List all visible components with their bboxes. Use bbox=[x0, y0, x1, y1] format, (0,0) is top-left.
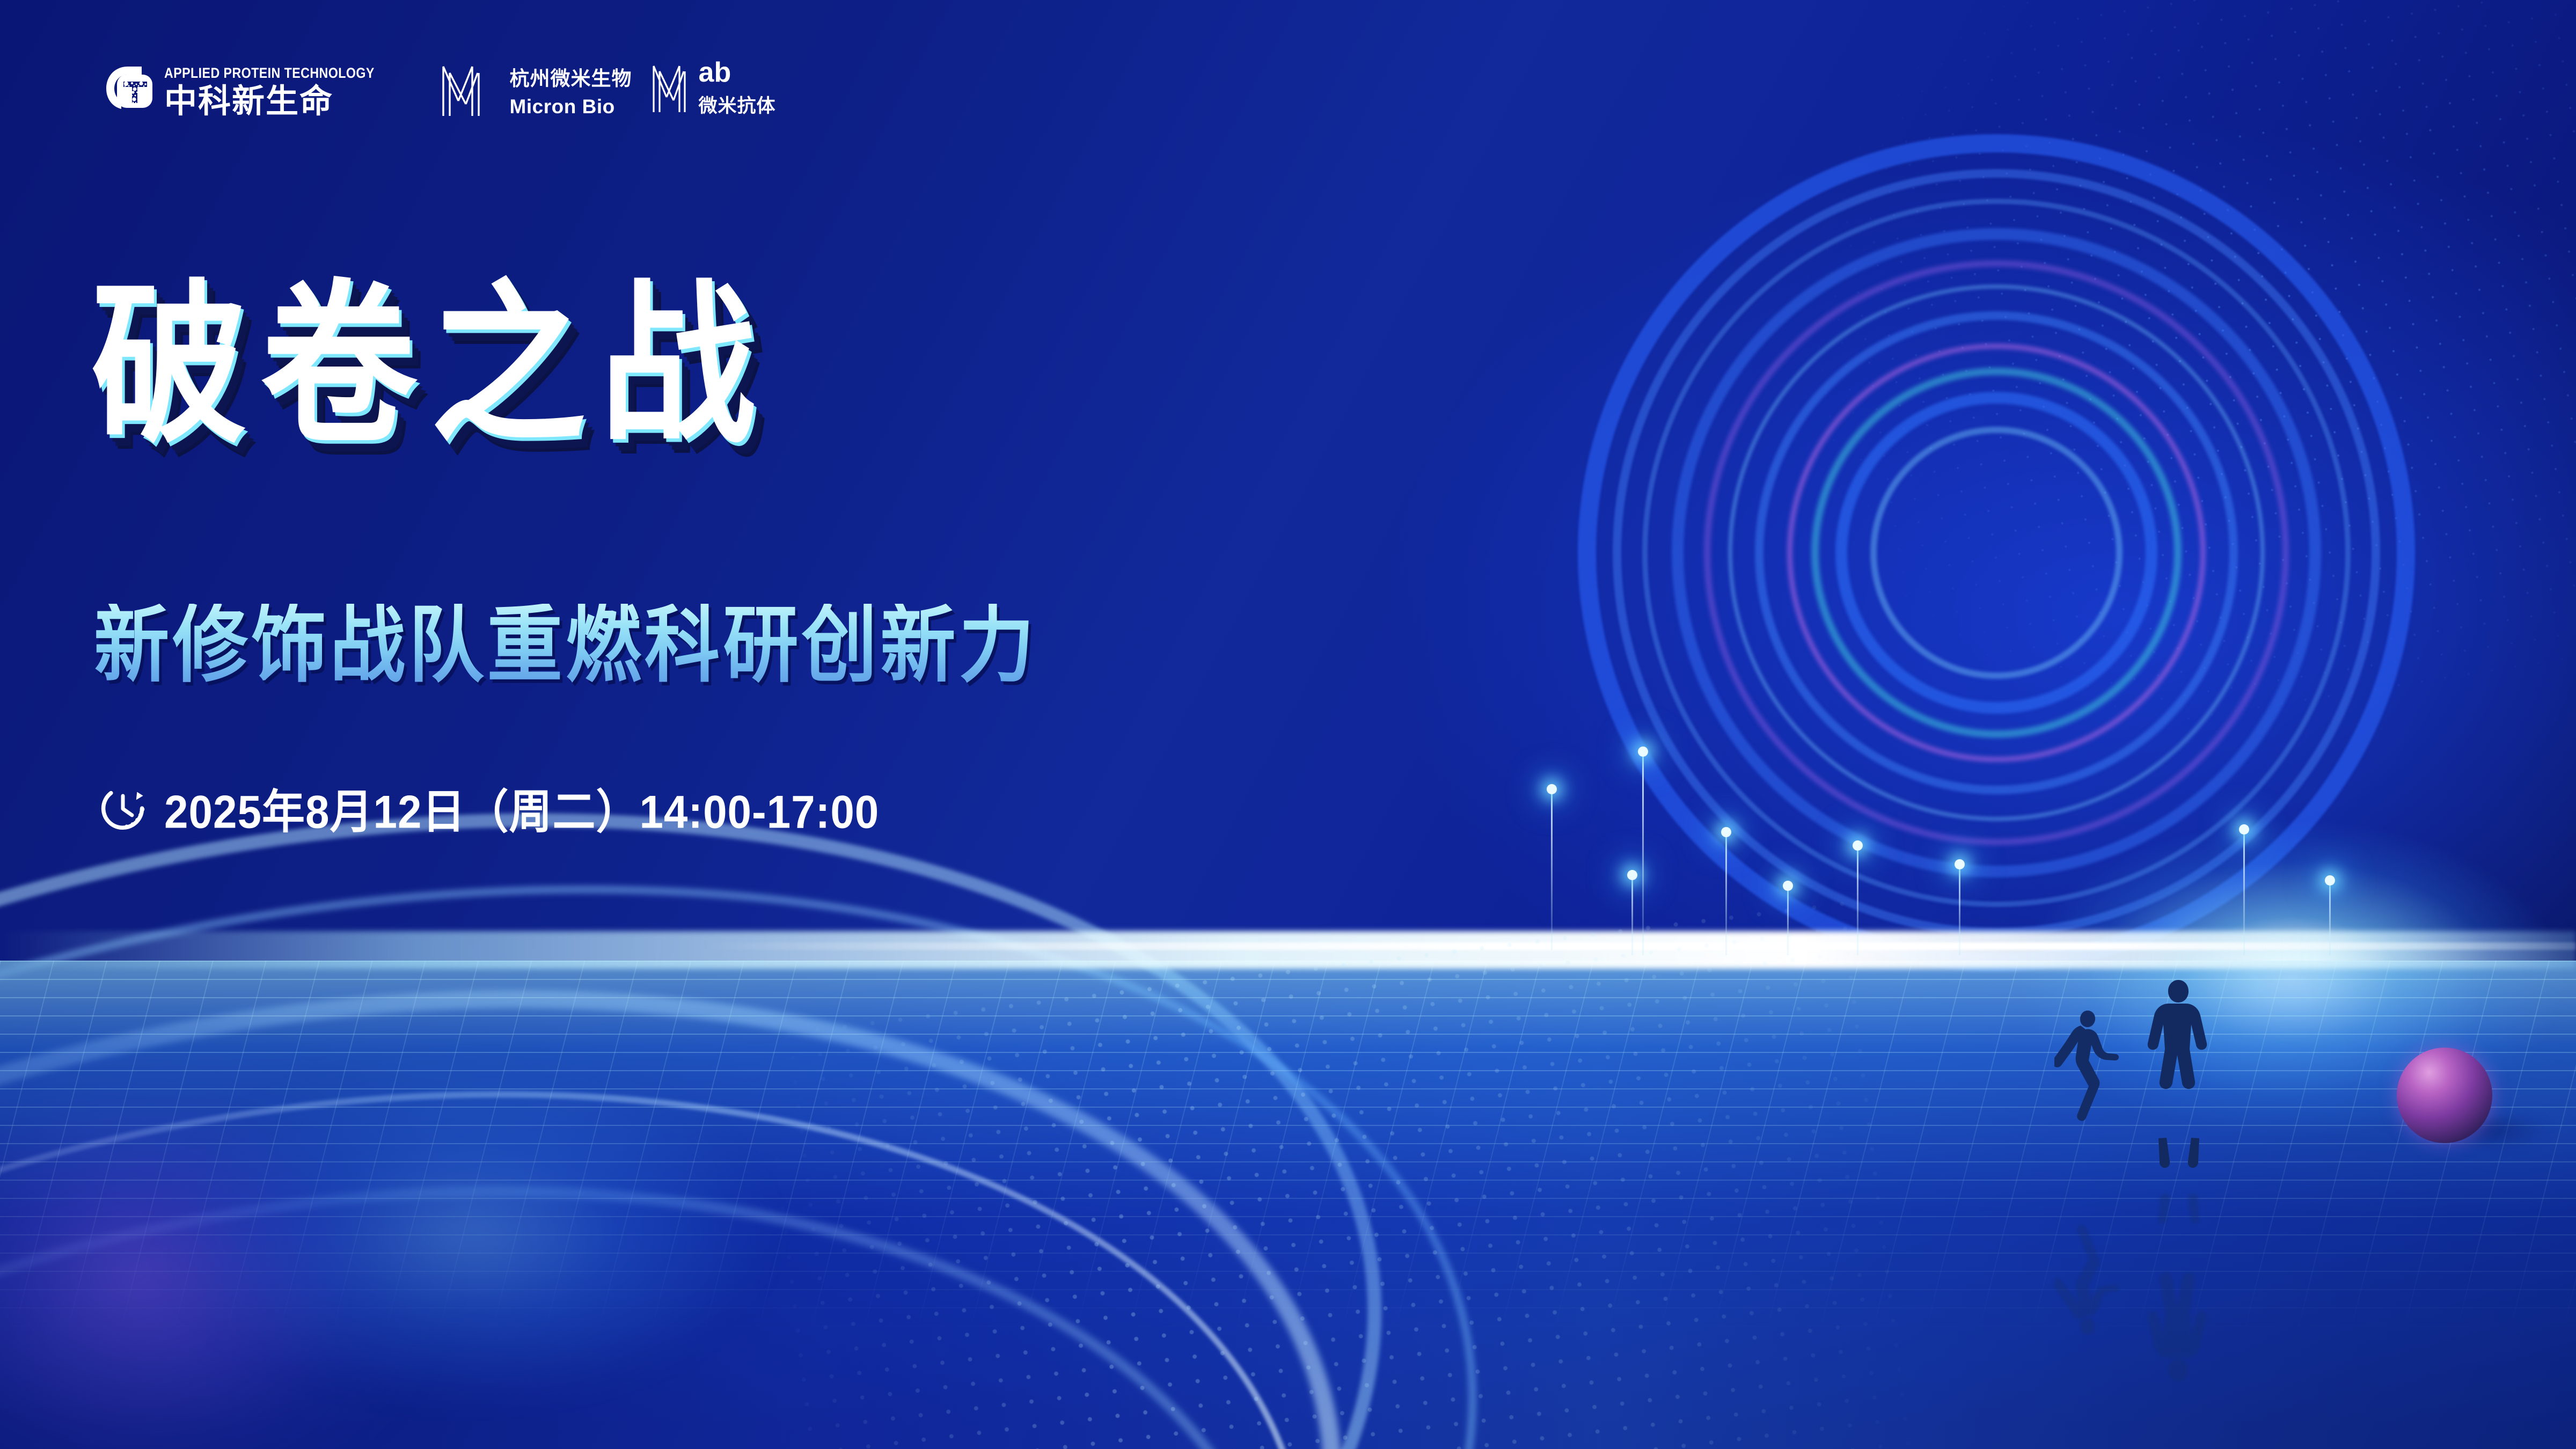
apt-english-name: APPLIED PROTEIN TECHNOLOGY bbox=[164, 65, 375, 82]
halftone-dots-top-right bbox=[1634, 0, 2576, 801]
mab-logo-text: ab 微米抗体 bbox=[699, 58, 776, 118]
runner-right bbox=[2139, 977, 2219, 1181]
ring-9 bbox=[1835, 392, 2157, 714]
sphere-shadow bbox=[2426, 1106, 2576, 1155]
ring-8 bbox=[1811, 368, 2182, 738]
apt-logo-text: APPLIED PROTEIN TECHNOLOGY 中科新生命 bbox=[164, 65, 409, 118]
halftone-dots-lower bbox=[747, 889, 1937, 1449]
clock-rotate-icon bbox=[100, 785, 146, 831]
runner-left-reflection bbox=[2054, 1173, 2119, 1339]
light-pole-2 bbox=[1642, 751, 1644, 955]
ring-2 bbox=[1642, 199, 2351, 907]
ring-4 bbox=[1704, 260, 2289, 845]
ring-0 bbox=[1578, 134, 2415, 971]
light-pole-8 bbox=[2329, 880, 2331, 955]
swoosh-2 bbox=[0, 836, 1439, 1449]
mab-chinese-name: 微米抗体 bbox=[699, 91, 776, 118]
logo-micron-bio[interactable]: 杭州微米生物 Micron Bio bbox=[440, 62, 632, 118]
horizon-light-band bbox=[0, 931, 2576, 969]
logo-mab[interactable]: ab 微米抗体 bbox=[650, 58, 776, 118]
ring-5 bbox=[1728, 284, 2265, 821]
logo-applied-protein-technology[interactable]: APPLIED PROTEIN TECHNOLOGY 中科新生命 bbox=[102, 65, 409, 118]
light-pole-6 bbox=[1959, 864, 1960, 955]
page-subtitle: 新修饰战队重燃科研创新力 bbox=[94, 604, 1037, 687]
mab-m-mark-icon bbox=[650, 63, 697, 114]
page-title: 破卷之战 bbox=[91, 279, 770, 453]
magenta-glow bbox=[0, 982, 526, 1449]
cyan-glow-bottom-left bbox=[64, 1030, 869, 1449]
swoosh-3 bbox=[0, 957, 1391, 1449]
micron-logo-text: 杭州微米生物 Micron Bio bbox=[510, 62, 632, 118]
concentric-rings-graphic bbox=[1540, 97, 2453, 1009]
horizon-core-line bbox=[698, 942, 2576, 950]
light-pole-1 bbox=[1631, 875, 1633, 955]
ring-3 bbox=[1672, 228, 2321, 877]
light-pole-7 bbox=[2243, 829, 2245, 955]
ring-1 bbox=[1613, 169, 2380, 936]
event-datetime-row: 2025年8月12日（周二）14:00-17:00 bbox=[100, 777, 879, 839]
light-pole-0 bbox=[1551, 789, 1553, 950]
magenta-sphere bbox=[2397, 1048, 2492, 1143]
poster-canvas: APPLIED PROTEIN TECHNOLOGY 中科新生命 bbox=[0, 0, 2576, 1449]
event-datetime-text: 2025年8月12日（周二）14:00-17:00 bbox=[164, 774, 879, 841]
runner-right-reflection bbox=[2139, 1181, 2219, 1385]
light-pole-4 bbox=[1787, 885, 1789, 955]
light-pole-5 bbox=[1857, 845, 1858, 955]
ring-6 bbox=[1755, 311, 2238, 794]
mab-english-name: ab bbox=[699, 58, 776, 86]
swoosh-0 bbox=[0, 639, 1493, 1449]
ring-10 bbox=[1870, 427, 2123, 679]
runner-left bbox=[2054, 1006, 2119, 1173]
apt-chinese-name: 中科新生命 bbox=[164, 84, 409, 118]
micron-m-mark-icon bbox=[440, 62, 500, 118]
swoosh-4 bbox=[0, 1071, 1353, 1449]
light-pole-3 bbox=[1725, 832, 1727, 955]
apt-dotted-t-mark-icon bbox=[102, 65, 153, 117]
logo-bar: APPLIED PROTEIN TECHNOLOGY 中科新生命 bbox=[102, 54, 776, 118]
ring-7 bbox=[1787, 343, 2206, 762]
micron-english-name: Micron Bio bbox=[510, 96, 632, 118]
micron-chinese-name: 杭州微米生物 bbox=[510, 62, 632, 91]
